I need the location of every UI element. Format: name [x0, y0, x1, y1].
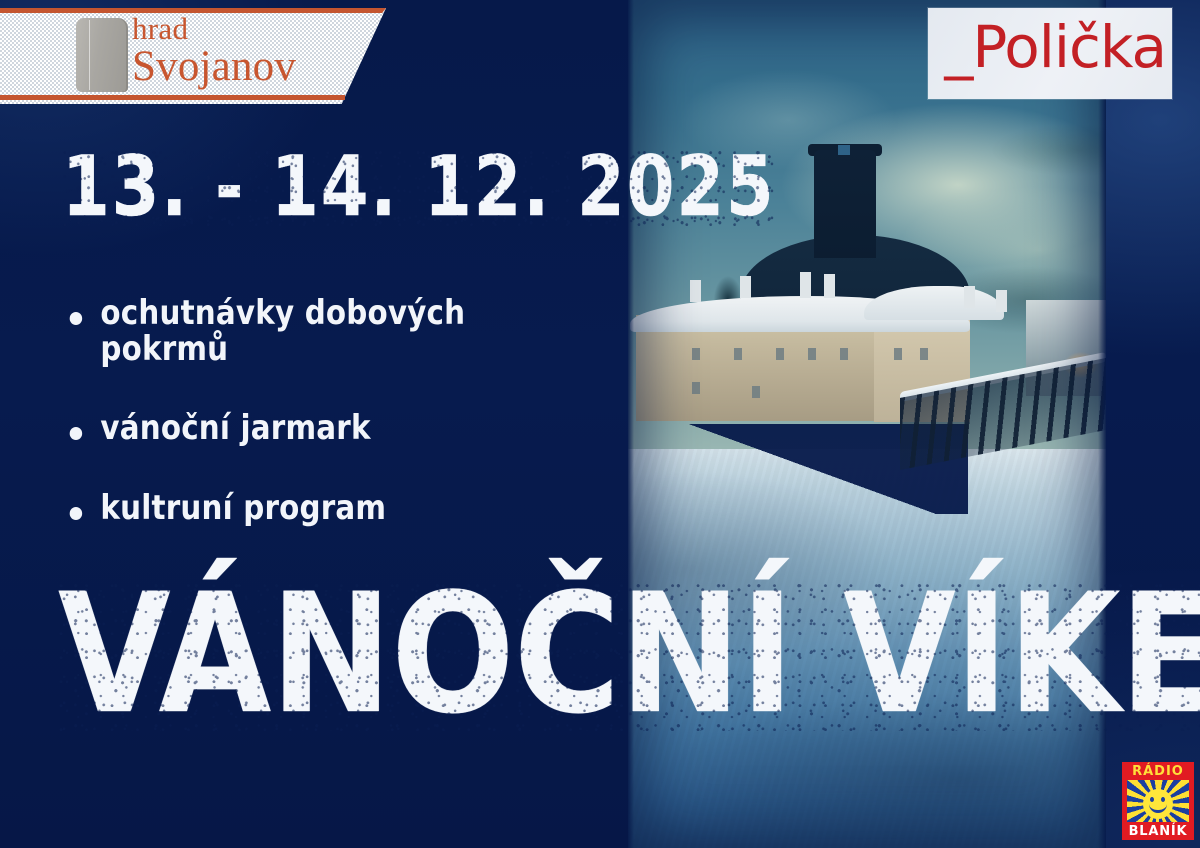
sun-smile: [1149, 803, 1167, 813]
event-date: 13. - 14. 12. 2025: [62, 145, 776, 228]
castle-logo-line2: Svojanov: [132, 46, 296, 88]
photo-window: [808, 348, 816, 360]
castle-tower-icon: [76, 18, 128, 92]
list-item: vánoční jarmark: [62, 411, 600, 447]
photo-chimney: [996, 290, 1007, 312]
photo-chimney: [690, 280, 701, 302]
castle-logo-text: hrad Svojanov: [132, 14, 296, 88]
event-headline: VÁNOČNÍ VÍKEND: [58, 578, 1200, 731]
photo-chimney: [740, 276, 751, 298]
banner-rule-bottom: [0, 95, 345, 100]
sun-eye-left: [1150, 797, 1154, 802]
photo-window: [840, 348, 848, 360]
radio-blanik-logo[interactable]: RÁDIO BLANÍK: [1122, 762, 1194, 840]
event-highlights-list: ochutnávky dobových pokrmů vánoční jarma…: [62, 296, 622, 571]
radio-blanik-bottom-text: BLANÍK: [1122, 824, 1194, 839]
photo-chimney: [800, 272, 811, 298]
list-item: kultruní program: [62, 491, 600, 527]
policka-logo[interactable]: _Polička: [928, 8, 1172, 99]
photo-window: [752, 386, 760, 398]
policka-logo-text: _Polička: [942, 15, 1166, 80]
banner-rule-top: [0, 8, 386, 13]
smiling-sun-icon: [1127, 780, 1189, 822]
castle-logo-line1: hrad: [132, 14, 296, 44]
photo-window: [920, 348, 928, 360]
radio-blanik-top-text: RÁDIO: [1122, 764, 1194, 779]
photo-castle-tower: [814, 150, 876, 258]
photo-window: [734, 348, 742, 360]
photo-window: [692, 382, 700, 394]
photo-chimney: [964, 286, 975, 308]
list-item: ochutnávky dobových pokrmů: [62, 296, 600, 367]
photo-chimney: [824, 274, 835, 298]
event-poster: hrad Svojanov _Polička 13. - 14. 12. 202…: [0, 0, 1200, 848]
photo-window: [776, 348, 784, 360]
sun-eye-right: [1161, 797, 1165, 802]
photo-window: [692, 348, 700, 360]
photo-window: [894, 348, 902, 360]
